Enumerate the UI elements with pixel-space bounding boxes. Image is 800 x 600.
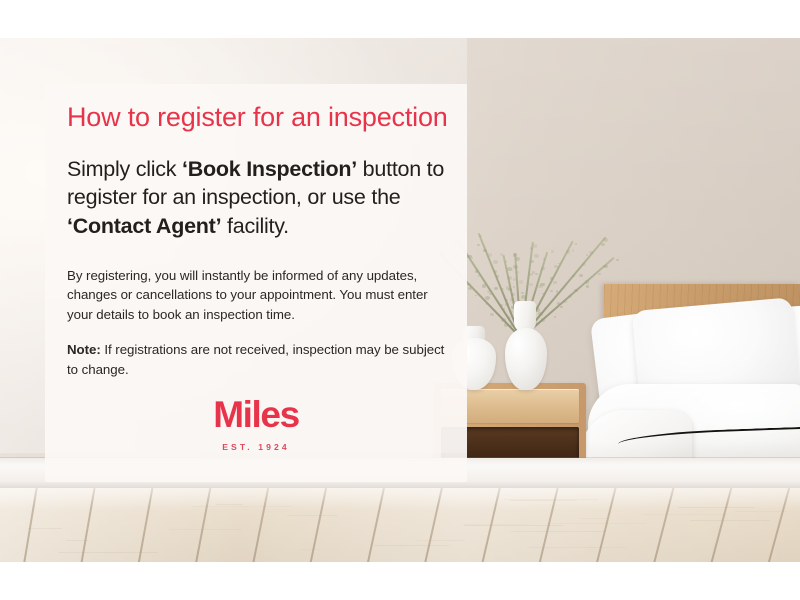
- branch-leaf: [560, 306, 563, 308]
- branch-leaf: [534, 254, 539, 258]
- wood-floor: [0, 488, 800, 562]
- branch-leaf: [601, 243, 605, 246]
- floor-grain: [374, 545, 449, 546]
- floor-grain: [170, 529, 242, 530]
- branch-leaf: [505, 303, 509, 306]
- branch-leaf: [554, 316, 556, 318]
- branch-leaf: [477, 244, 480, 246]
- branch-leaf: [554, 265, 558, 268]
- branch-leaf: [487, 290, 491, 293]
- branch-leaf: [505, 299, 508, 302]
- branch-leaf: [541, 318, 545, 321]
- branch-leaf: [563, 300, 566, 303]
- branch-leaf: [493, 260, 498, 264]
- branch-leaf: [506, 286, 510, 290]
- floor-grain: [678, 507, 754, 508]
- letterbox-bottom: [0, 562, 800, 600]
- branch-leaf: [572, 249, 575, 251]
- note-paragraph: Note: If registrations are not received,…: [67, 340, 453, 379]
- branch-leaf: [533, 244, 538, 248]
- floor-grain: [643, 514, 728, 515]
- branch-leaf: [511, 293, 515, 296]
- branch-leaf: [494, 270, 497, 272]
- branch-leaf: [468, 287, 472, 290]
- branch-leaf: [515, 257, 520, 261]
- floor-grain: [735, 511, 787, 512]
- floor-grain: [464, 525, 562, 526]
- brand-logo: Miles EST. 1924: [45, 396, 467, 452]
- branch-leaf: [496, 275, 499, 278]
- floor-grain: [527, 547, 626, 548]
- branch-leaf: [605, 265, 607, 267]
- floor-grain: [462, 524, 529, 525]
- branch-leaf: [538, 312, 543, 316]
- branch-leaf: [487, 253, 492, 257]
- branch-leaf: [509, 310, 513, 313]
- branch-leaf: [485, 296, 490, 300]
- note-label: Note:: [67, 342, 101, 357]
- bedroom-photo: How to register for an inspection Simply…: [0, 38, 800, 562]
- branch-leaf: [504, 323, 508, 326]
- brand-wordmark: Miles: [45, 396, 467, 433]
- branch-leaf: [501, 318, 506, 322]
- branch-leaf: [467, 283, 471, 286]
- brand-established: EST. 1924: [45, 442, 467, 452]
- branch-leaf: [589, 251, 593, 254]
- branch-leaf: [513, 278, 516, 280]
- floor-grain: [510, 500, 577, 501]
- branch-leaf: [558, 263, 560, 265]
- branch-leaf: [541, 267, 545, 270]
- branch-leaf: [519, 280, 523, 283]
- floor-grain: [28, 528, 62, 529]
- branch-leaf: [534, 292, 536, 294]
- floor-grain: [216, 504, 243, 505]
- branch-leaf: [513, 253, 518, 257]
- instruction-part-3: facility.: [221, 214, 289, 238]
- floor-grain: [511, 531, 605, 532]
- floor-grain: [192, 506, 291, 507]
- branch-leaf: [582, 263, 586, 266]
- floor-grain: [287, 515, 339, 516]
- book-inspection-label: ‘Book Inspection’: [182, 157, 357, 181]
- floor-grain: [547, 523, 647, 524]
- letterbox-top: [0, 0, 800, 38]
- branch-leaf: [585, 280, 589, 283]
- instruction-part-1: Simply click: [67, 157, 182, 181]
- branch-leaf: [507, 276, 512, 280]
- branch-leaf: [550, 290, 553, 292]
- note-text: If registrations are not received, inspe…: [67, 342, 444, 377]
- branch-leaf: [575, 243, 577, 245]
- floor-grain: [59, 552, 158, 553]
- branch-leaf: [513, 265, 518, 269]
- branch-leaf: [530, 260, 534, 263]
- branch-leaf: [544, 307, 547, 309]
- branch-leaf: [579, 274, 583, 277]
- branch-leaf: [490, 313, 494, 316]
- branch-leaf: [494, 287, 498, 290]
- page-title: How to register for an inspection: [67, 102, 453, 133]
- branch-leaf: [482, 284, 487, 288]
- floor-grain: [416, 540, 465, 541]
- branch-leaf: [598, 273, 601, 275]
- instruction-text: Simply click ‘Book Inspection’ button to…: [67, 155, 453, 239]
- branch-leaf: [563, 287, 565, 289]
- branch-leaf: [556, 290, 559, 292]
- branch-leaf: [574, 289, 578, 292]
- branch-leaf: [572, 275, 575, 277]
- branch-leaf: [586, 254, 588, 256]
- contact-agent-label: ‘Contact Agent’: [67, 214, 221, 238]
- branch-leaf: [503, 308, 505, 310]
- floor-grain: [300, 549, 320, 550]
- floor-grain: [580, 518, 608, 519]
- branch-leaf: [616, 259, 619, 262]
- branch-leaf: [568, 295, 571, 298]
- branch-leaf: [540, 283, 545, 287]
- branch-leaf: [603, 238, 608, 242]
- floor-grain: [66, 540, 88, 541]
- screenshot-canvas: How to register for an inspection Simply…: [0, 0, 800, 600]
- branch-leaf: [475, 295, 477, 297]
- branch-leaf: [566, 250, 570, 253]
- branch-leaf: [586, 285, 589, 288]
- branch-leaf: [515, 271, 519, 274]
- branch-leaf: [551, 250, 555, 253]
- branch-leaf: [499, 304, 503, 307]
- floor-grain: [690, 520, 770, 521]
- branch-leaf: [500, 253, 503, 255]
- branch-leaf: [479, 235, 482, 237]
- branch-leaf: [521, 292, 524, 294]
- branch-leaf: [483, 249, 486, 252]
- branch-leaf: [501, 288, 504, 291]
- registration-info-paragraph: By registering, you will instantly be in…: [67, 266, 453, 325]
- branch-leaf: [513, 286, 515, 288]
- vase-right: [505, 328, 547, 390]
- branch-leaf: [535, 273, 537, 275]
- branch-leaf: [553, 281, 557, 284]
- branch-leaf: [529, 283, 533, 286]
